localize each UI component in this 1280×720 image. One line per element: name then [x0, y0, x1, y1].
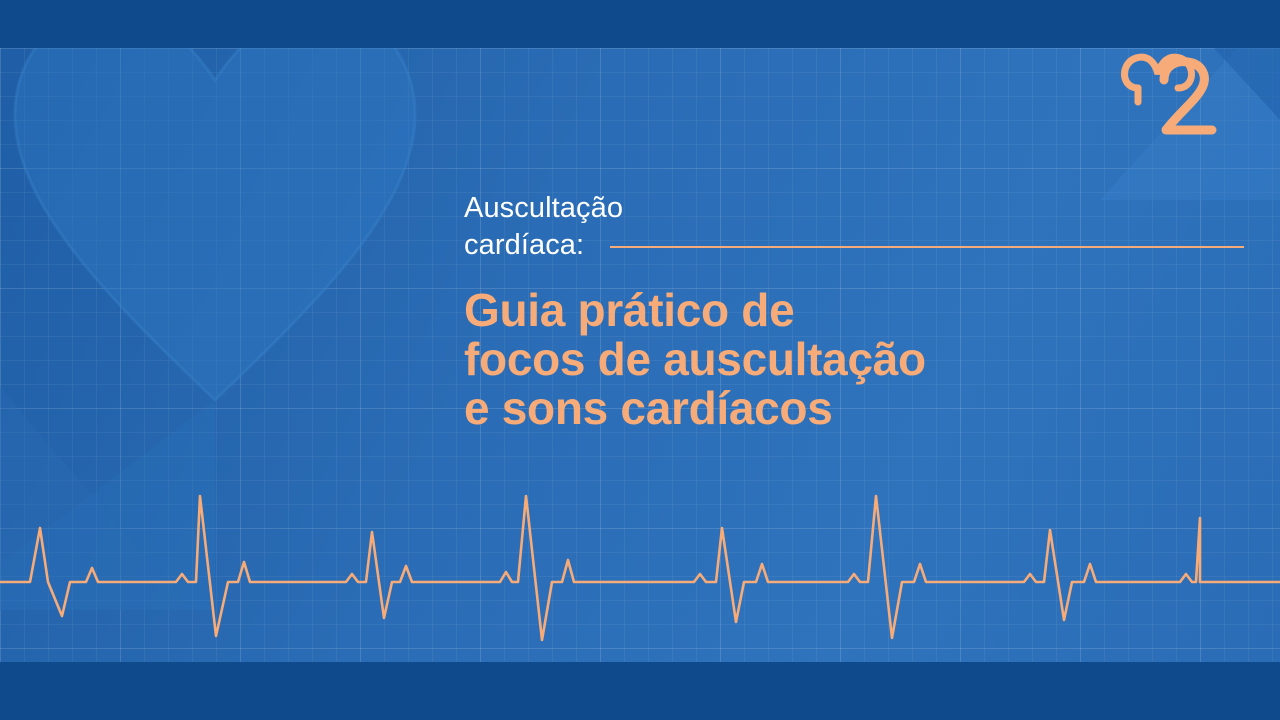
title-line-1: Guia prático de: [464, 286, 1244, 335]
logo-heart-two: [1120, 40, 1240, 160]
page-title: Guia prático de focos de auscultação e s…: [464, 286, 1244, 432]
title-block: Auscultação cardíaca: Guia prático de fo…: [464, 190, 1244, 432]
title-line-3: e sons cardíacos: [464, 384, 1244, 433]
title-divider-rule: [610, 246, 1244, 248]
top-bar: [0, 0, 1280, 48]
kicker-row-2: cardíaca:: [464, 227, 1244, 264]
bottom-bar: [0, 662, 1280, 720]
title-line-2: focos de auscultação: [464, 335, 1244, 384]
slide-canvas: Auscultação cardíaca: Guia prático de fo…: [0, 0, 1280, 720]
kicker-line-2: cardíaca:: [464, 227, 584, 264]
kicker-line-1: Auscultação: [464, 190, 1244, 227]
